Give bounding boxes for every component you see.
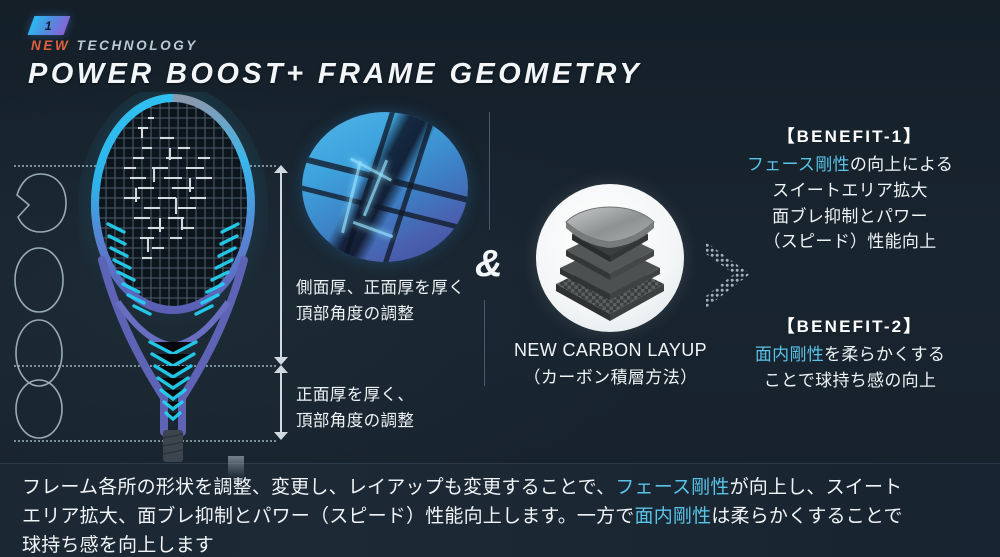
caption-line-2-highlight: 面内剛性 bbox=[635, 506, 712, 527]
racket-lower-label-line2: 頂部角度の調整 bbox=[296, 408, 414, 434]
benefit-1-line-1-highlight: フェース剛性 bbox=[747, 155, 850, 174]
caption-line-3: 球持ち感を向上します bbox=[22, 532, 986, 557]
caption-band: フレーム各所の形状を調整、変更し、レイアップも変更することで、フェース剛性が向上… bbox=[0, 463, 1000, 557]
benefit-2-line-2: ことで球持ち感の向上 bbox=[710, 368, 990, 394]
cross-section-1 bbox=[12, 172, 68, 234]
caption-line-1-a: フレーム各所の形状を調整、変更し、レイアップも変更することで、 bbox=[22, 477, 615, 498]
cross-section-2 bbox=[13, 246, 65, 314]
kicker-line: NEW TECHNOLOGY bbox=[31, 38, 198, 53]
cross-section-4 bbox=[14, 378, 64, 440]
benefit-1-line-1: フェース剛性の向上による bbox=[710, 152, 990, 178]
racket-illustration bbox=[78, 92, 268, 464]
carbon-layup-icon bbox=[536, 184, 684, 332]
racket-upper-label-line2: 頂部角度の調整 bbox=[296, 301, 465, 327]
technology-infographic-slide: 1 NEW TECHNOLOGY POWER BOOST+ FRAME GEOM… bbox=[0, 0, 1000, 557]
divider-right bbox=[489, 112, 490, 230]
benefit-1-line-3: 面ブレ抑制とパワー bbox=[710, 204, 990, 230]
frame-tube-detail-photo bbox=[302, 112, 468, 262]
caption-line-2: エリア拡大、面ブレ抑制とパワー（スピード）性能向上します。一方で面内剛性は柔らか… bbox=[22, 503, 986, 532]
divider-left bbox=[484, 300, 485, 386]
caption-line-1-b: が向上し、スイート bbox=[730, 477, 903, 498]
step-badge: 1 bbox=[28, 16, 71, 35]
benefit-2-line-1-highlight: 面内剛性 bbox=[755, 345, 824, 364]
benefit-1-body: フェース剛性の向上による スイートエリア拡大 面ブレ抑制とパワー （スピード）性… bbox=[710, 152, 990, 255]
benefit-1-heading: 【BENEFIT-1】 bbox=[710, 122, 990, 147]
benefit-2-line-1: 面内剛性を柔らかくする bbox=[710, 342, 990, 368]
benefit-1-line-1-rest: の向上による bbox=[850, 155, 953, 174]
carbon-layup-subtitle: （カーボン積層方法） bbox=[488, 365, 733, 391]
benefit-1-line-4: （スピード）性能向上 bbox=[710, 229, 990, 255]
carbon-layup-title: NEW CARBON LAYUP bbox=[488, 337, 733, 365]
page-title: POWER BOOST+ FRAME GEOMETRY bbox=[28, 58, 642, 91]
caption-line-1: フレーム各所の形状を調整、変更し、レイアップも変更することで、フェース剛性が向上… bbox=[22, 474, 986, 503]
measure-arrow-lower bbox=[274, 365, 288, 440]
benefit-2-heading: 【BENEFIT-2】 bbox=[710, 312, 990, 337]
racket-lower-label-line1: 正面厚を厚く、 bbox=[296, 382, 414, 408]
caption-line-2-b: は柔らかくすることで bbox=[711, 506, 902, 527]
caption-line-2-a: エリア拡大、面ブレ抑制とパワー（スピード）性能向上します。一方で bbox=[22, 506, 635, 527]
benefit-2-line-1-rest: を柔らかくする bbox=[824, 345, 945, 364]
racket-upper-label: 側面厚、正面厚を厚く 頂部角度の調整 bbox=[296, 275, 465, 328]
kicker-technology-label: TECHNOLOGY bbox=[77, 38, 198, 53]
conjunction-ampersand: & bbox=[475, 243, 502, 286]
caption-line-1-highlight: フェース剛性 bbox=[615, 477, 729, 498]
racket-upper-label-line1: 側面厚、正面厚を厚く bbox=[296, 275, 465, 301]
caption-text: フレーム各所の形状を調整、変更し、レイアップも変更することで、フェース剛性が向上… bbox=[22, 474, 986, 557]
benefit-2-body: 面内剛性を柔らかくする ことで球持ち感の向上 bbox=[710, 342, 990, 394]
measure-arrow-upper bbox=[274, 165, 288, 365]
carbon-layup-caption: NEW CARBON LAYUP （カーボン積層方法） bbox=[488, 337, 733, 391]
benefit-1-line-2: スイートエリア拡大 bbox=[710, 178, 990, 204]
kicker-new-label: NEW bbox=[31, 38, 70, 53]
step-badge-number: 1 bbox=[45, 20, 52, 32]
racket-lower-label: 正面厚を厚く、 頂部角度の調整 bbox=[296, 382, 414, 435]
